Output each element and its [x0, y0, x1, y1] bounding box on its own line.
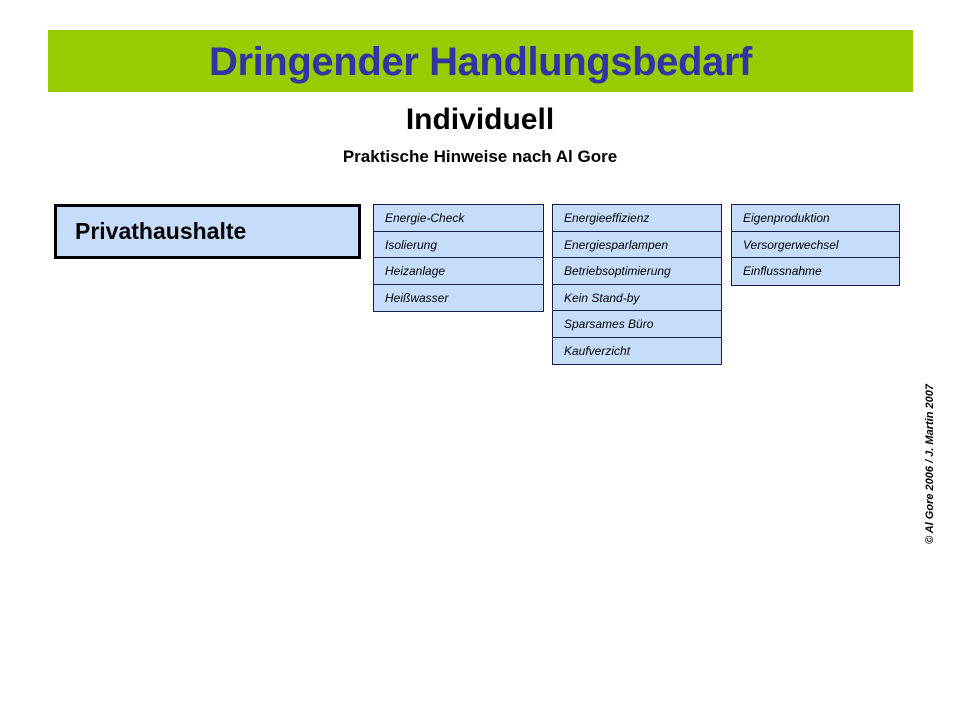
slide-title: Dringender Handlungsbedarf	[48, 36, 913, 88]
item-cell: Kein Stand-by	[553, 285, 721, 312]
item-cell: Energieeffizienz	[553, 205, 721, 232]
item-cell: Energie-Check	[374, 205, 543, 232]
item-cell: Heizanlage	[374, 258, 543, 285]
slide-subtitle-main: Individuell	[0, 103, 960, 137]
item-column-2: EnergieeffizienzEnergiesparlampenBetrieb…	[552, 204, 722, 365]
slide-canvas: Dringender Handlungsbedarf Individuell P…	[0, 0, 960, 720]
item-cell: Einflussnahme	[732, 258, 899, 285]
item-cell: Sparsames Büro	[553, 311, 721, 338]
item-column-3: EigenproduktionVersorgerwechselEinflussn…	[731, 204, 900, 286]
copyright-notice: © Al Gore 2006 / J. Martin 2007	[924, 344, 938, 544]
item-column-1: Energie-CheckIsolierungHeizanlageHeißwas…	[373, 204, 544, 312]
item-cell: Betriebsoptimierung	[553, 258, 721, 285]
item-cell: Heißwasser	[374, 285, 543, 312]
item-cell: Eigenproduktion	[732, 205, 899, 232]
item-cell: Kaufverzicht	[553, 338, 721, 365]
item-cell: Isolierung	[374, 232, 543, 259]
category-box-privathaushalte: Privathaushalte	[54, 204, 361, 259]
category-label: Privathaushalte	[75, 207, 354, 256]
slide-subtitle-secondary: Praktische Hinweise nach Al Gore	[0, 147, 960, 167]
item-cell: Energiesparlampen	[553, 232, 721, 259]
item-cell: Versorgerwechsel	[732, 232, 899, 259]
